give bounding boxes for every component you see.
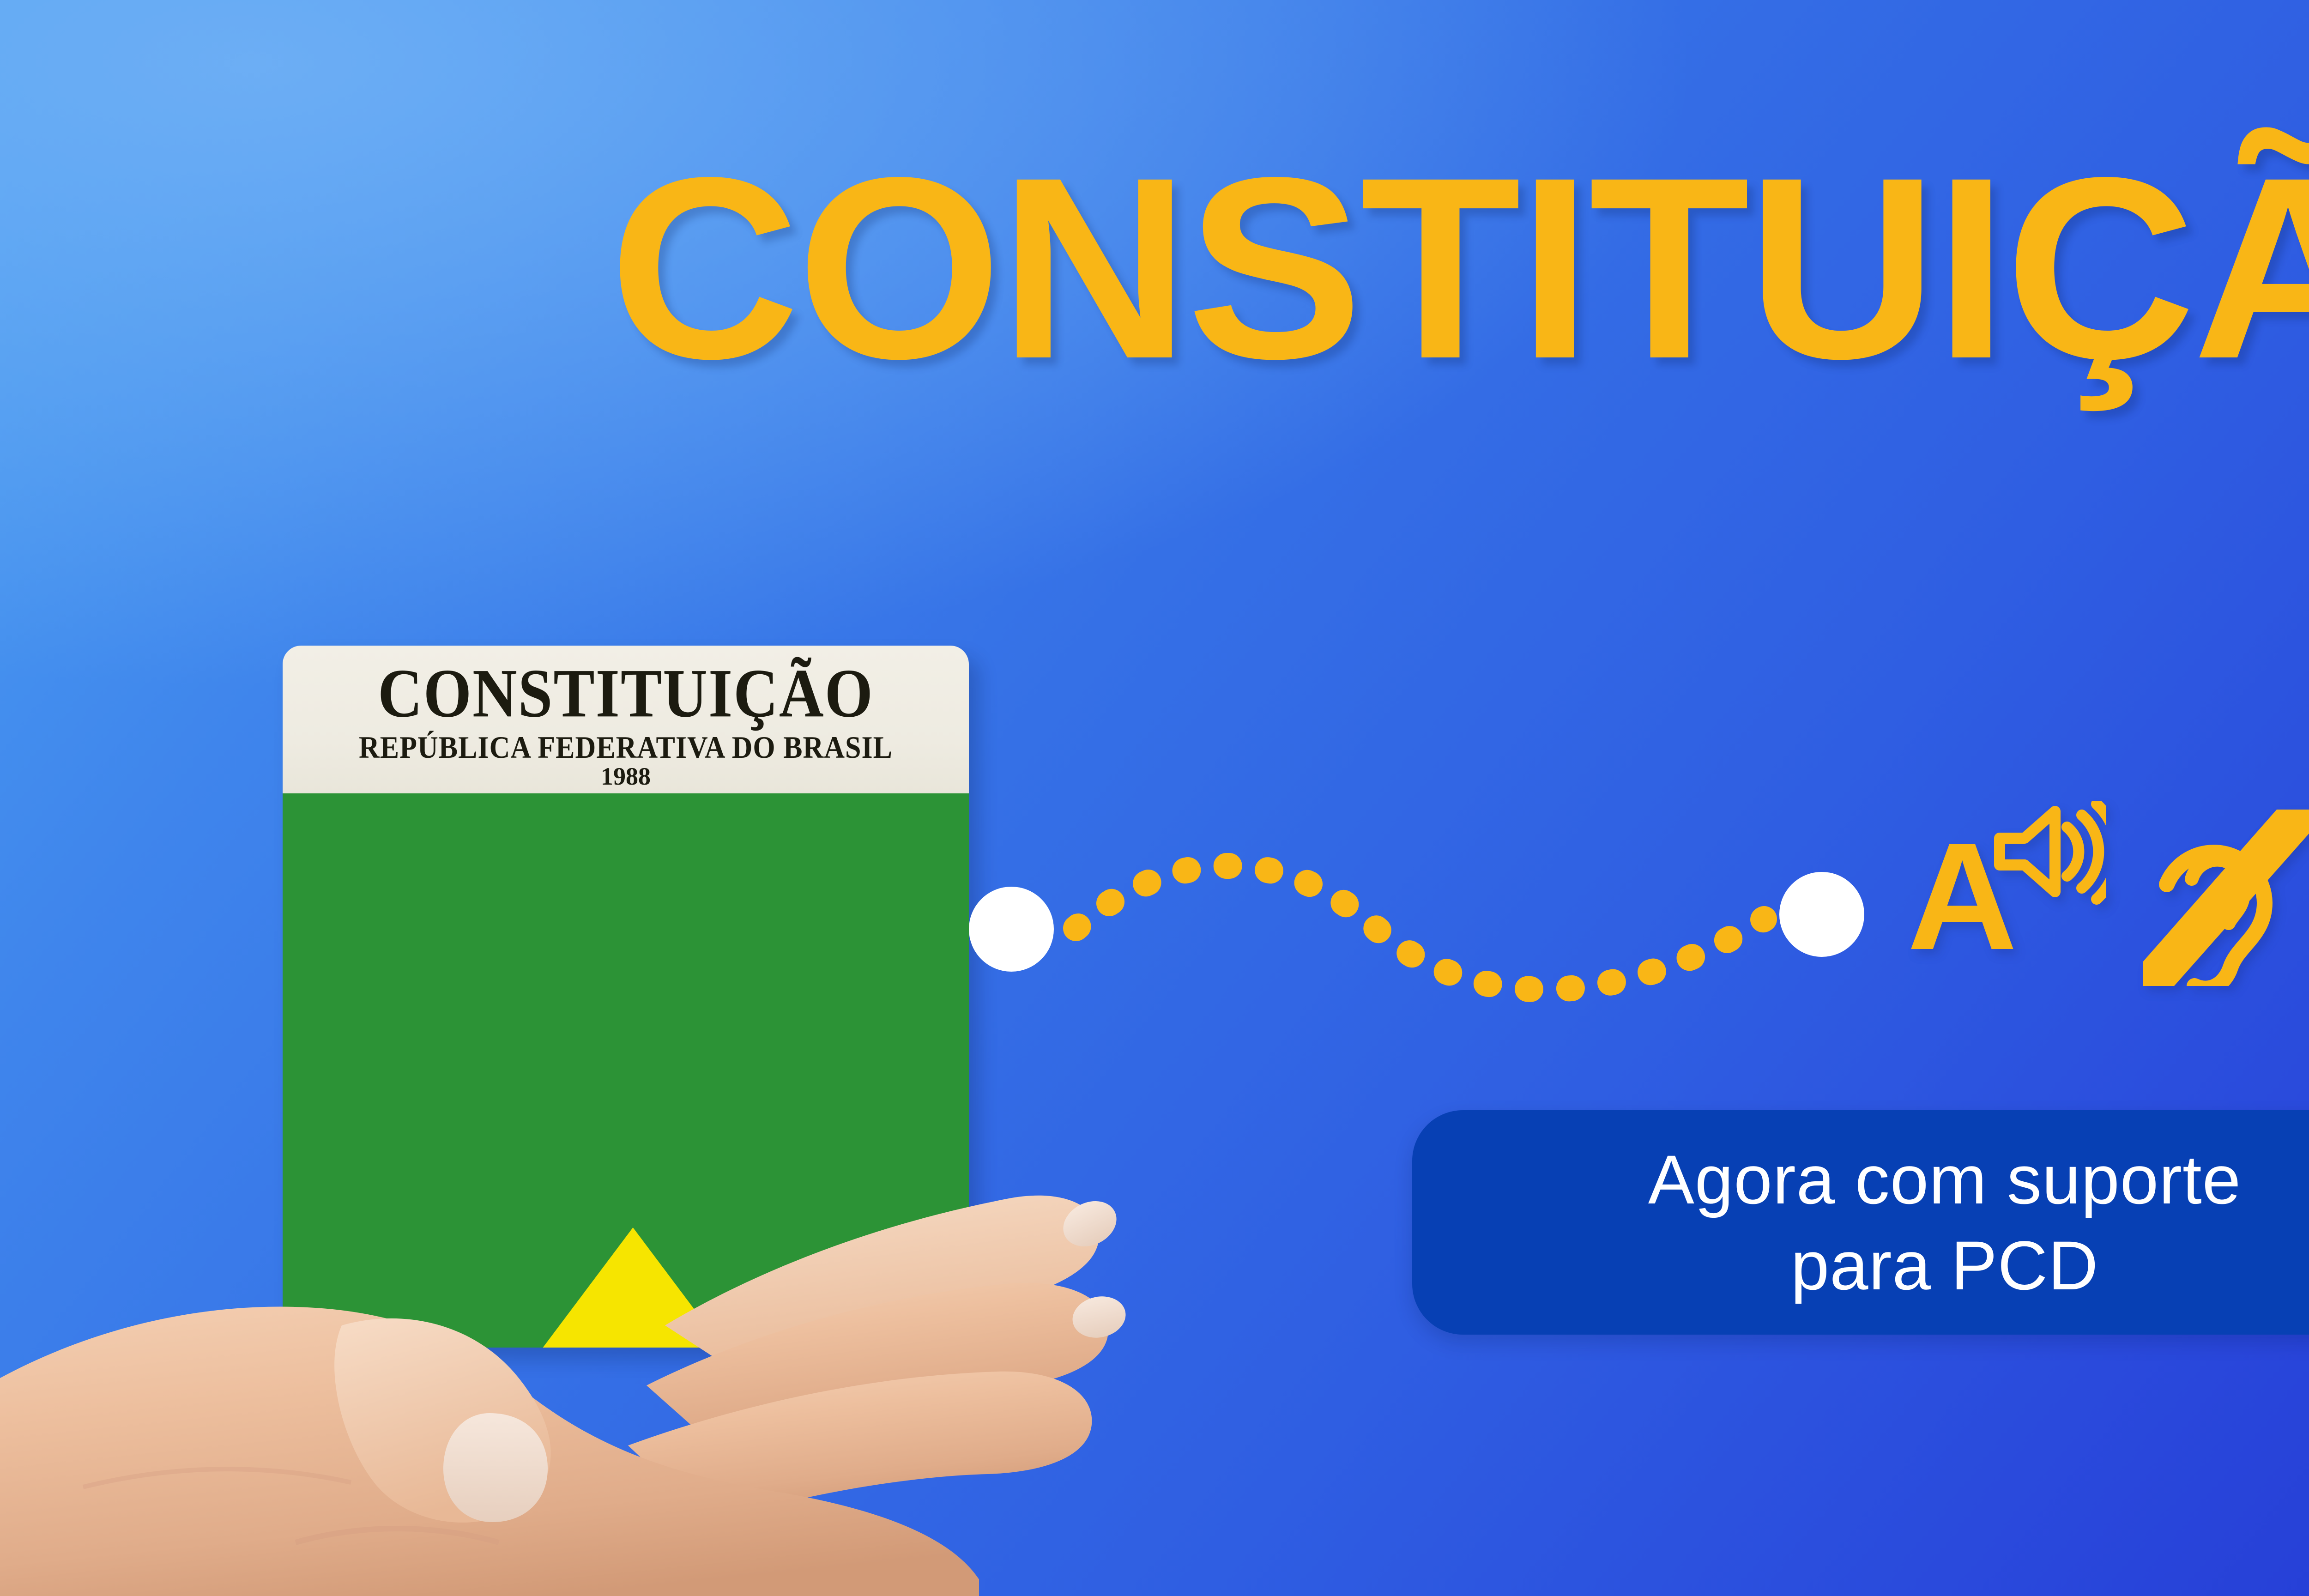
text-to-speech-icon[interactable]: A [1907,801,2106,986]
book-year: 1988 [283,762,969,791]
accessibility-icon-row: A [1907,794,2309,993]
ear-slash-icon[interactable] [2124,801,2309,986]
book-subtitle: REPÚBLICA FEDERATIVA DO BRASIL [283,730,969,766]
connector-dots [1076,866,1764,990]
callout-line-2: para PCD [1791,1222,2099,1308]
banner-canvas: CONSTITUIÇÃO CONSTITUIÇÃO REPÚBLICA FEDE… [0,0,2309,1596]
dotted-connector [961,827,1875,1021]
support-callout[interactable]: Agora com suporte para PCD [1412,1110,2309,1335]
connector-endpoint-right [1779,872,1864,957]
open-hand-photo [0,1108,1215,1596]
connector-endpoint-left [969,887,1054,972]
book-title: CONSTITUIÇÃO [283,653,969,733]
book-cover-top: CONSTITUIÇÃO REPÚBLICA FEDERATIVA DO BRA… [283,646,969,793]
page-title: CONSTITUIÇÃO [0,139,2309,397]
callout-line-1: Agora com suporte [1648,1137,2241,1222]
